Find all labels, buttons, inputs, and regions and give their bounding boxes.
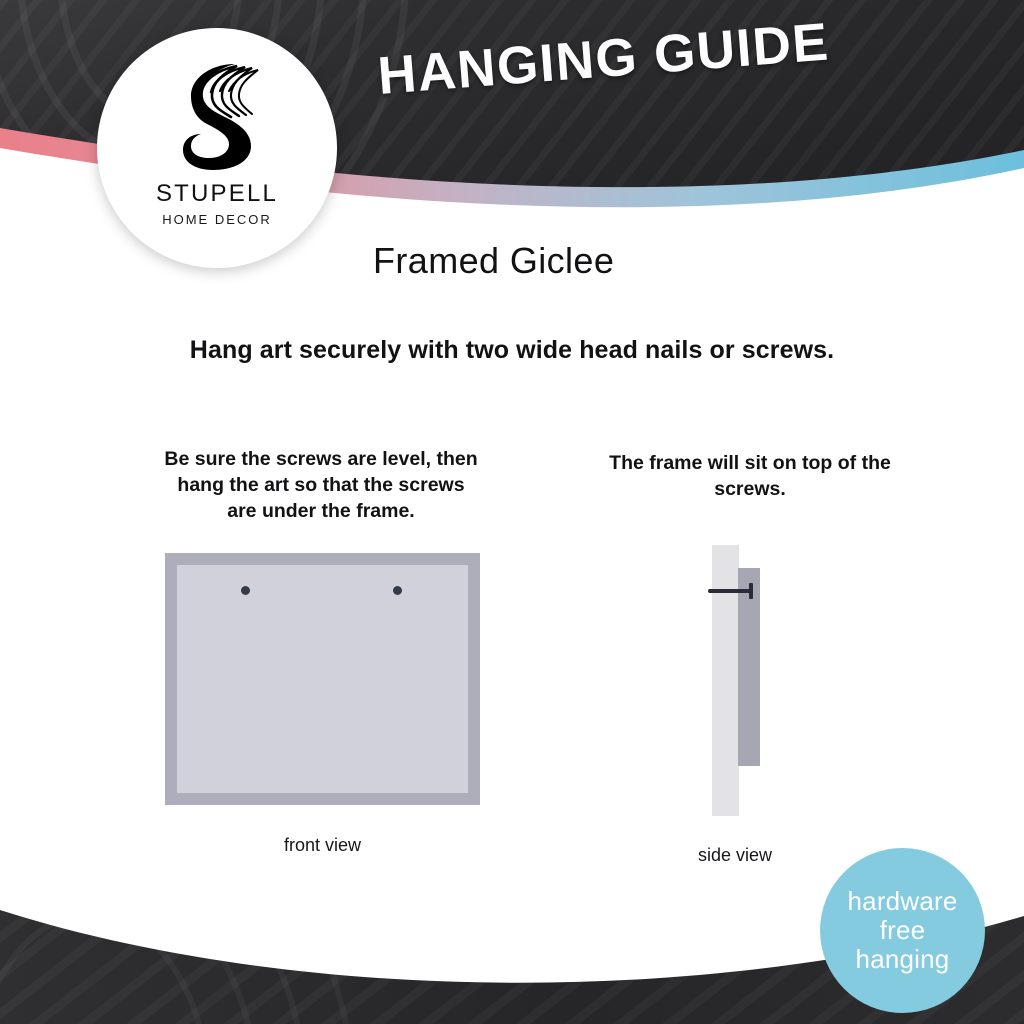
badge-line-3: hanging xyxy=(856,945,950,974)
side-view-diagram xyxy=(705,545,805,820)
front-view-caption: Be sure the screws are level, then hang … xyxy=(163,446,479,524)
stupell-swoosh-logo-icon xyxy=(157,54,277,174)
brand-logo-badge: STUPELL HOME DECOR xyxy=(97,28,337,268)
front-view-diagram xyxy=(165,553,480,805)
front-view-label: front view xyxy=(165,835,480,856)
badge-line-1: hardware xyxy=(848,887,958,916)
nail-head-icon xyxy=(749,583,753,599)
nail-shaft-icon xyxy=(708,589,751,593)
badge-line-2: free xyxy=(880,916,926,945)
frame-mat-area xyxy=(177,565,468,793)
product-type-subtitle: Framed Giclee xyxy=(373,240,614,282)
wall-strip xyxy=(712,545,739,816)
hardware-free-hanging-badge: hardware free hanging xyxy=(820,848,985,1013)
logo-brand-name: STUPELL xyxy=(156,180,278,208)
hanging-guide-page: STUPELL HOME DECOR HANGING GUIDE Framed … xyxy=(0,0,1024,1024)
side-view-caption: The frame will sit on top of the screws. xyxy=(600,450,900,502)
lead-instruction-text: Hang art securely with two wide head nai… xyxy=(0,336,1024,365)
side-view-label: side view xyxy=(655,845,815,866)
logo-brand-tagline: HOME DECOR xyxy=(162,212,272,227)
screw-marker-left xyxy=(241,586,250,595)
screw-marker-right xyxy=(393,586,402,595)
